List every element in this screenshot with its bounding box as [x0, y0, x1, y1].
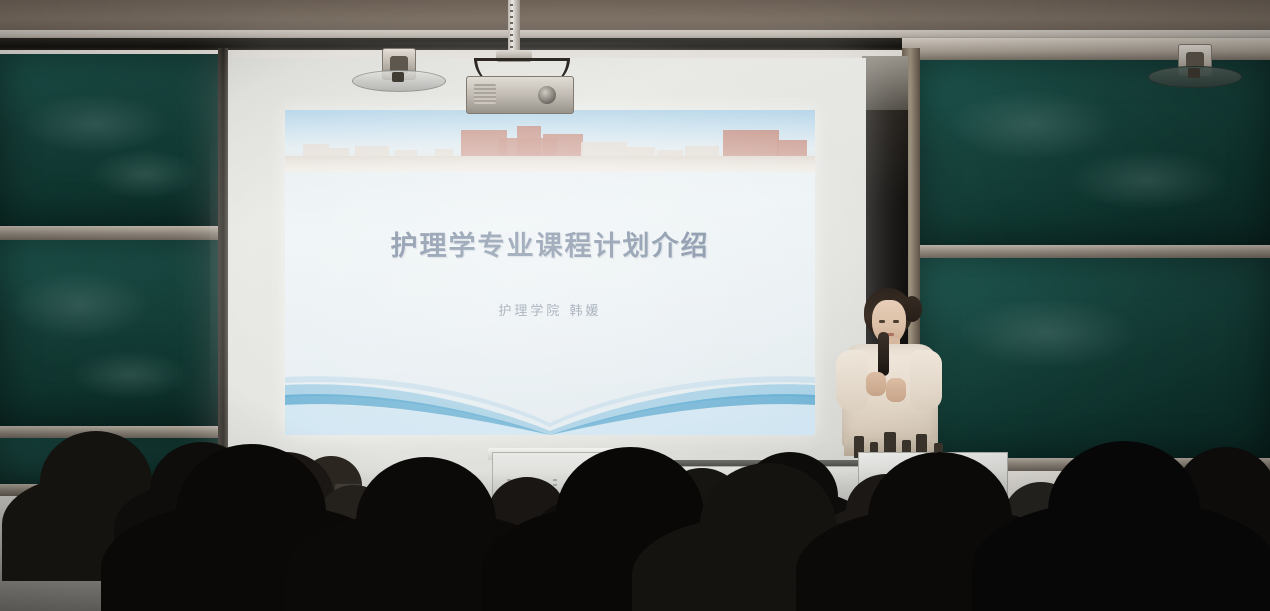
- wall-recess-top: [862, 56, 908, 110]
- projector-pole: [508, 0, 520, 56]
- presenter-hand-left: [866, 372, 886, 396]
- chalk-smudge: [90, 149, 200, 199]
- slide-title: 护理学专业课程计划介绍: [285, 224, 815, 263]
- presenter-eye-left: [879, 320, 885, 323]
- blackboard-left-lower: [0, 240, 222, 426]
- microphone-icon: [878, 332, 889, 376]
- fan-hub-icon: [392, 72, 404, 82]
- blackboard-right-lower: [918, 258, 1270, 458]
- ceiling-fan-right: [1148, 42, 1234, 86]
- ceiling: [0, 0, 1270, 34]
- ceiling-fan-left: [352, 46, 444, 90]
- chalk-smudge: [10, 270, 150, 340]
- audience-head: [1048, 441, 1200, 581]
- slide-subtitle: 护理学院 韩媛: [285, 300, 815, 319]
- blackboard-rail: [0, 226, 224, 240]
- slide-banner-image: [285, 110, 815, 172]
- chalk-smudge: [20, 94, 170, 154]
- chalk-smudge: [70, 350, 190, 400]
- lecture-hall-photo: 护理学专业课程计划介绍 护理学院 韩媛: [0, 0, 1270, 611]
- presenter-hand-right: [886, 378, 906, 402]
- blackboard-post-left: [218, 48, 228, 500]
- projected-slide: 护理学专业课程计划介绍 护理学院 韩媛: [285, 110, 815, 435]
- blackboard-left-upper: [0, 54, 222, 226]
- open-book-wave-icon: [285, 361, 815, 435]
- presenter-sleeve-left: [836, 350, 868, 410]
- chalk-smudge: [1068, 150, 1228, 210]
- projector-lens-icon: [538, 86, 556, 104]
- slide-wave-decoration: [285, 361, 815, 435]
- blackboard-rail: [912, 245, 1270, 258]
- audience-head: [356, 457, 496, 586]
- ceiling-projector: [460, 0, 578, 112]
- projector-vent: [474, 84, 496, 104]
- presenter-sleeve-right: [910, 350, 942, 410]
- audience: [0, 455, 1270, 611]
- banner-haze-overlay: [285, 110, 815, 172]
- fan-hub-icon: [1188, 68, 1200, 78]
- slide-body: 护理学专业课程计划介绍 护理学院 韩媛: [285, 172, 815, 435]
- presenter-eye-right: [893, 320, 899, 323]
- chalk-smudge: [958, 298, 1138, 368]
- chalk-smudge: [948, 90, 1118, 160]
- blackboard-right-upper: [918, 60, 1270, 245]
